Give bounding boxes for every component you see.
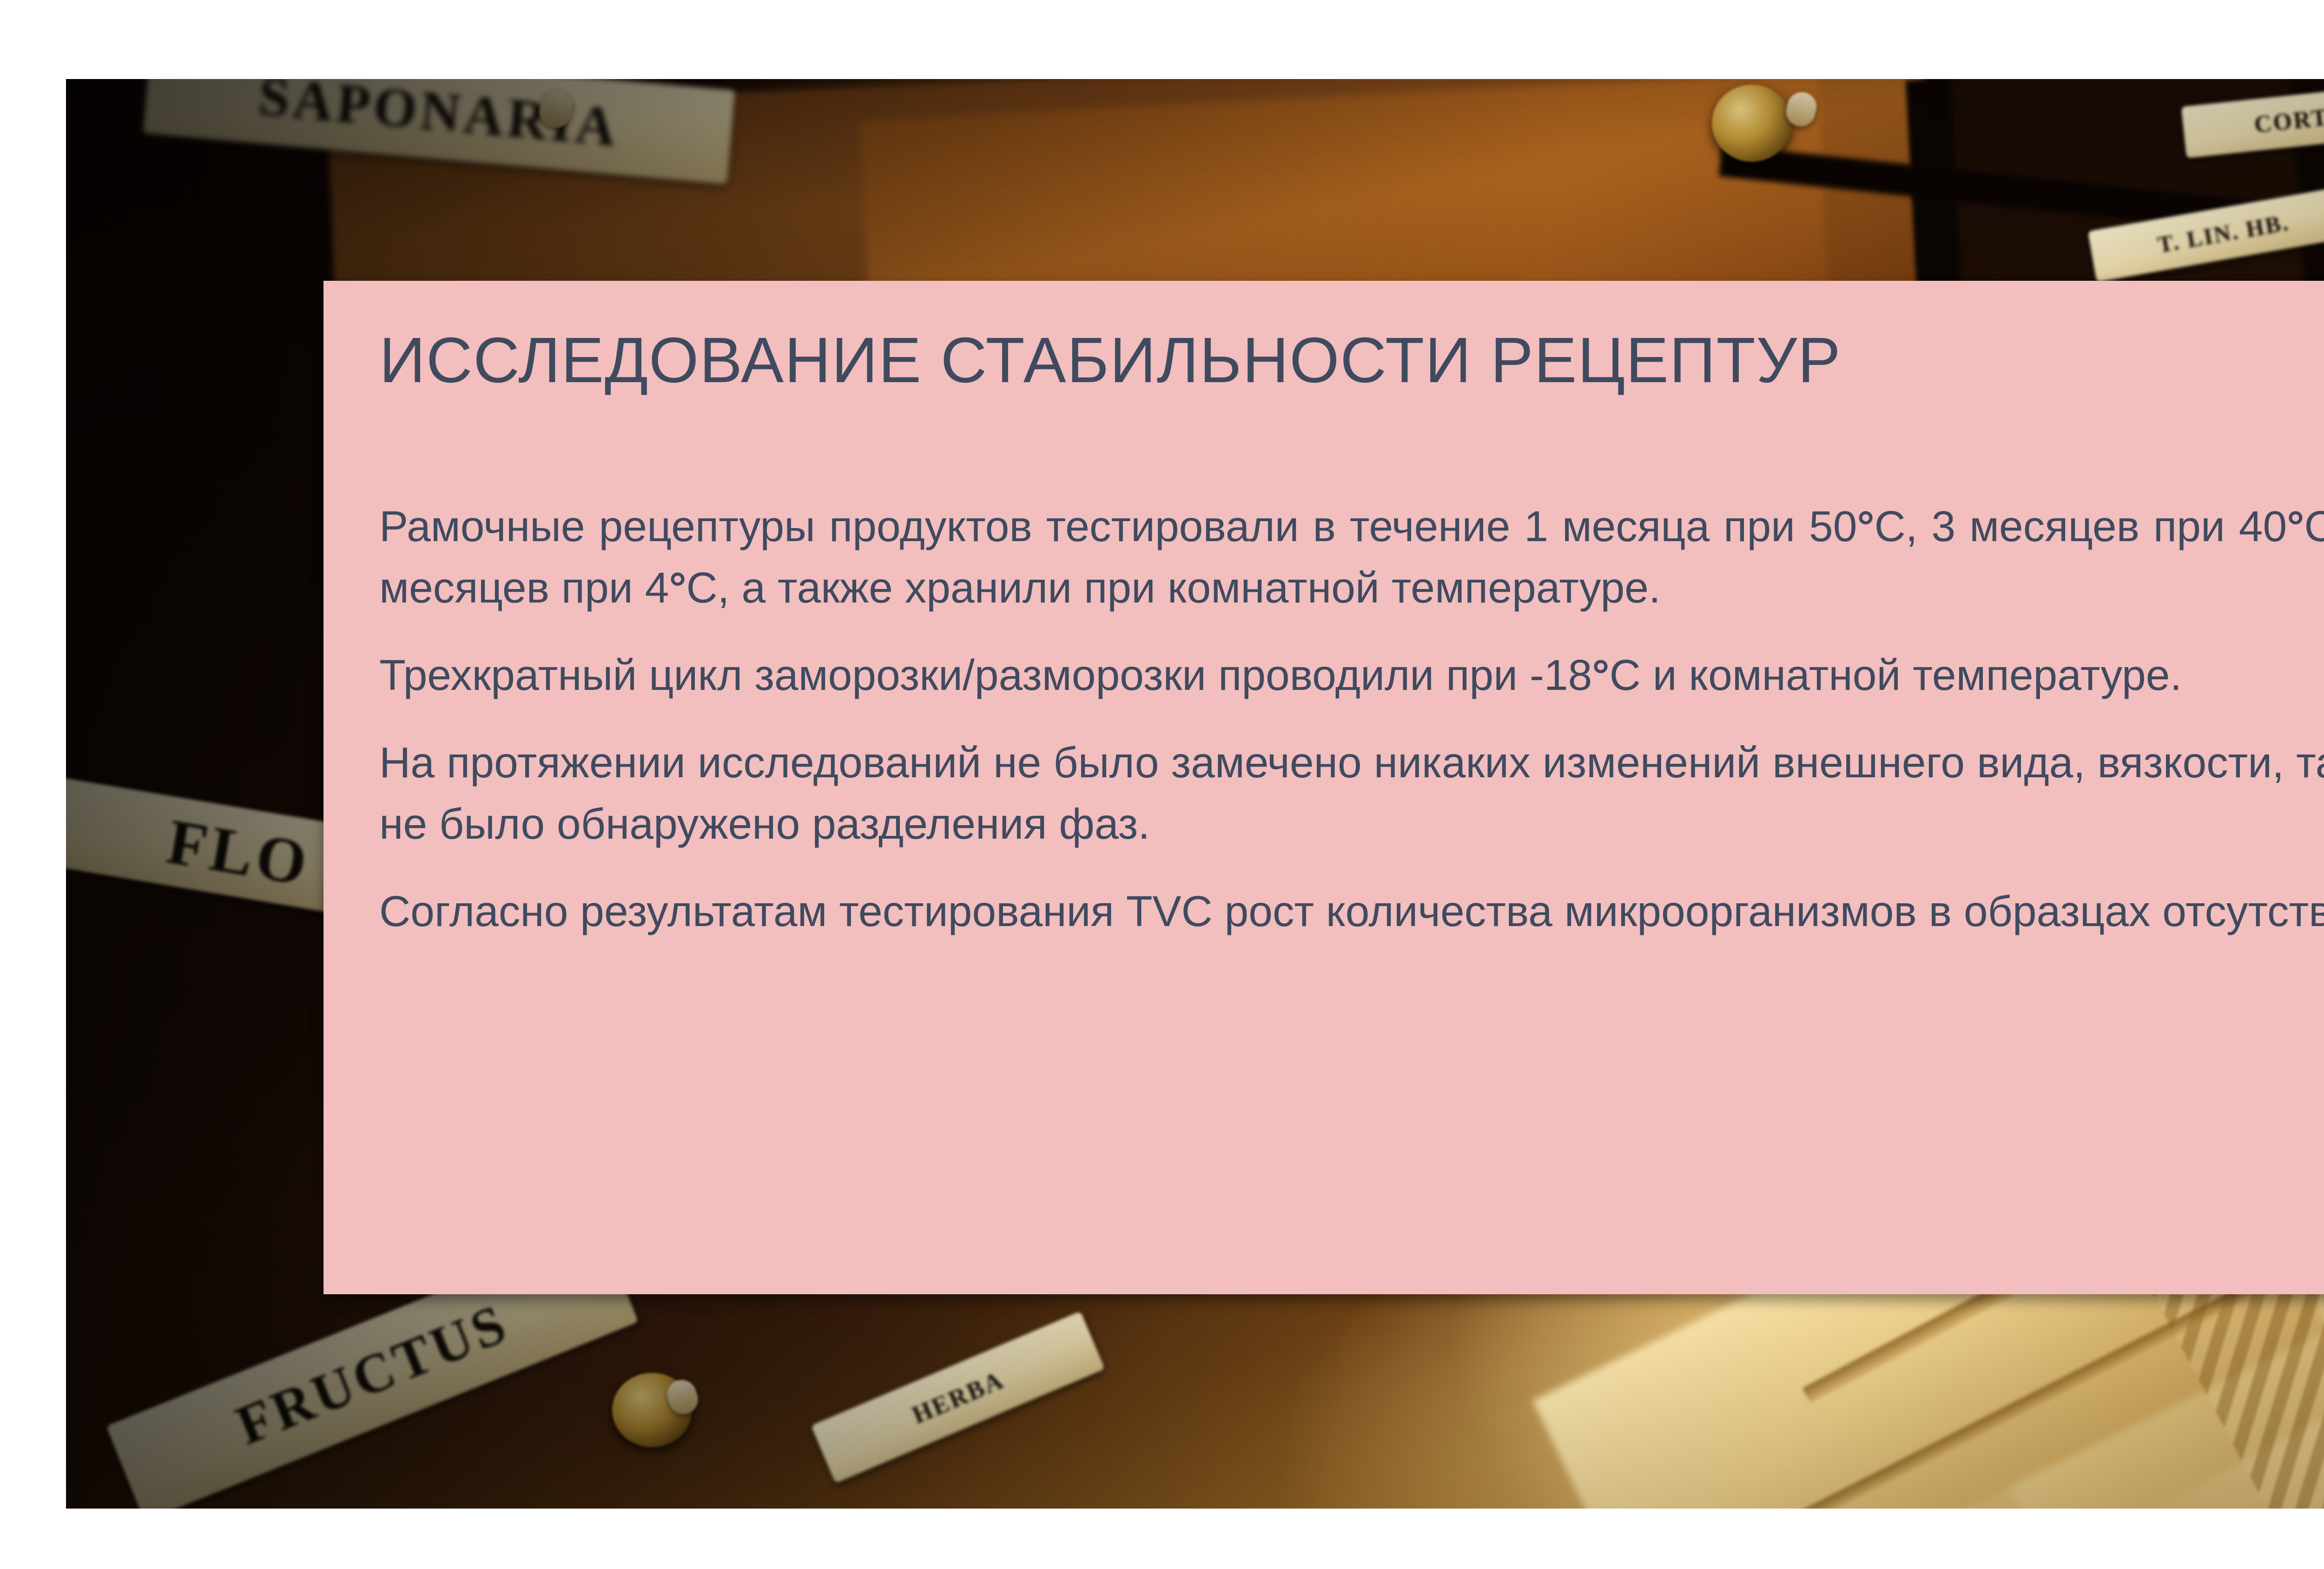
body-text-block: Рамочные рецептуры продуктов тестировали… xyxy=(379,496,2324,942)
content-panel-inner: ИССЛЕДОВАНИЕ СТАБИЛЬНОСТИ РЕЦЕПТУР Рамоч… xyxy=(379,281,2324,1294)
slide-canvas: SAPONARIA FLO FRUCTUS CORTEX SEMEN T. LI… xyxy=(0,0,2324,1569)
page-title: ИССЛЕДОВАНИЕ СТАБИЛЬНОСТИ РЕЦЕПТУР xyxy=(379,328,2324,392)
paragraph-1: Рамочные рецептуры продуктов тестировали… xyxy=(379,496,2324,618)
content-panel: ИССЛЕДОВАНИЕ СТАБИЛЬНОСТИ РЕЦЕПТУР Рамоч… xyxy=(324,281,2324,1294)
paragraph-3: На протяжении исследований не было замеч… xyxy=(379,732,2324,854)
brass-knob-2 xyxy=(1712,85,1792,162)
paragraph-4: Согласно результатам тестирования TVC ро… xyxy=(379,880,2324,942)
paragraph-2: Трехкратный цикл заморозки/разморозки пр… xyxy=(379,644,2324,706)
